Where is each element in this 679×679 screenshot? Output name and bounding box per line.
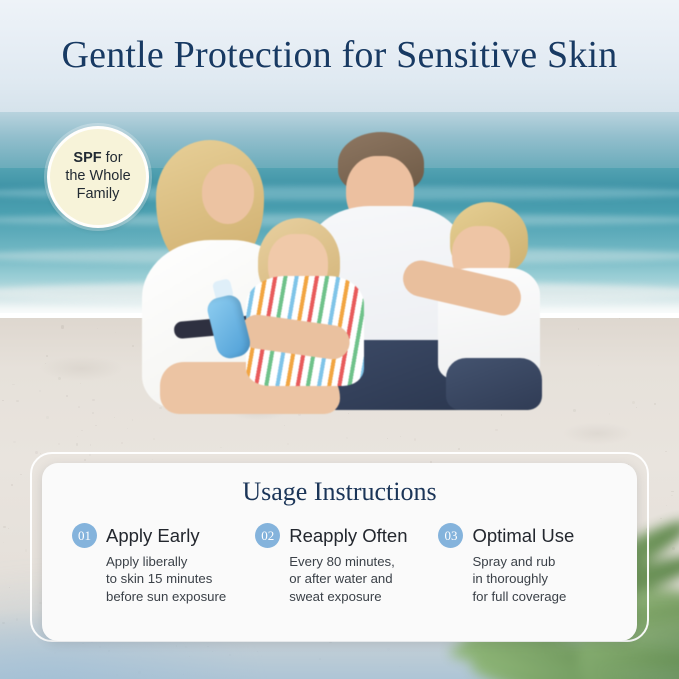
spf-badge-line3: Family [77,186,120,202]
usage-instructions-heading: Usage Instructions [58,477,621,507]
step-header: 02 Reapply Often [255,523,424,548]
step-description-line: before sun exposure [106,588,241,605]
spf-badge-line1-rest: for [102,150,123,166]
mother-face [202,164,254,224]
usage-instructions-card: Usage Instructions 01 Apply Early Apply … [42,463,637,641]
step-title: Reapply Often [289,525,407,547]
spf-badge: SPF for the Whole Family [47,126,149,228]
step-description-line: Apply liberally [106,553,241,570]
spf-badge-line1-strong: SPF [73,150,101,166]
step-number-badge: 01 [72,523,97,548]
step-description-line: in thoroughly [472,570,607,587]
son-jeans [446,358,542,410]
step-description: Spray and rub in thoroughly for full cov… [438,553,607,605]
instruction-step: 03 Optimal Use Spray and rub in thorough… [438,523,607,605]
step-description-line: Every 80 minutes, [289,553,424,570]
step-title: Optimal Use [472,525,574,547]
step-header: 03 Optimal Use [438,523,607,548]
family-group [120,130,540,400]
product-infographic-poster: Gentle Protection for Sensitive Skin SPF… [0,0,679,679]
step-number-badge: 03 [438,523,463,548]
step-description: Apply liberally to skin 15 minutes befor… [72,553,241,605]
step-description: Every 80 minutes, or after water and swe… [255,553,424,605]
step-description-line: for full coverage [472,588,607,605]
spf-badge-line2: the Whole [65,168,130,184]
step-number-badge: 02 [255,523,280,548]
step-description-line: Spray and rub [472,553,607,570]
instruction-step: 01 Apply Early Apply liberally to skin 1… [72,523,241,605]
step-title: Apply Early [106,525,200,547]
page-title: Gentle Protection for Sensitive Skin [0,33,679,77]
spf-badge-text: SPF for the Whole Family [59,150,136,203]
instruction-steps: 01 Apply Early Apply liberally to skin 1… [58,523,621,605]
step-description-line: or after water and [289,570,424,587]
step-description-line: sweat exposure [289,588,424,605]
instruction-step: 02 Reapply Often Every 80 minutes, or af… [255,523,424,605]
step-header: 01 Apply Early [72,523,241,548]
step-description-line: to skin 15 minutes [106,570,241,587]
